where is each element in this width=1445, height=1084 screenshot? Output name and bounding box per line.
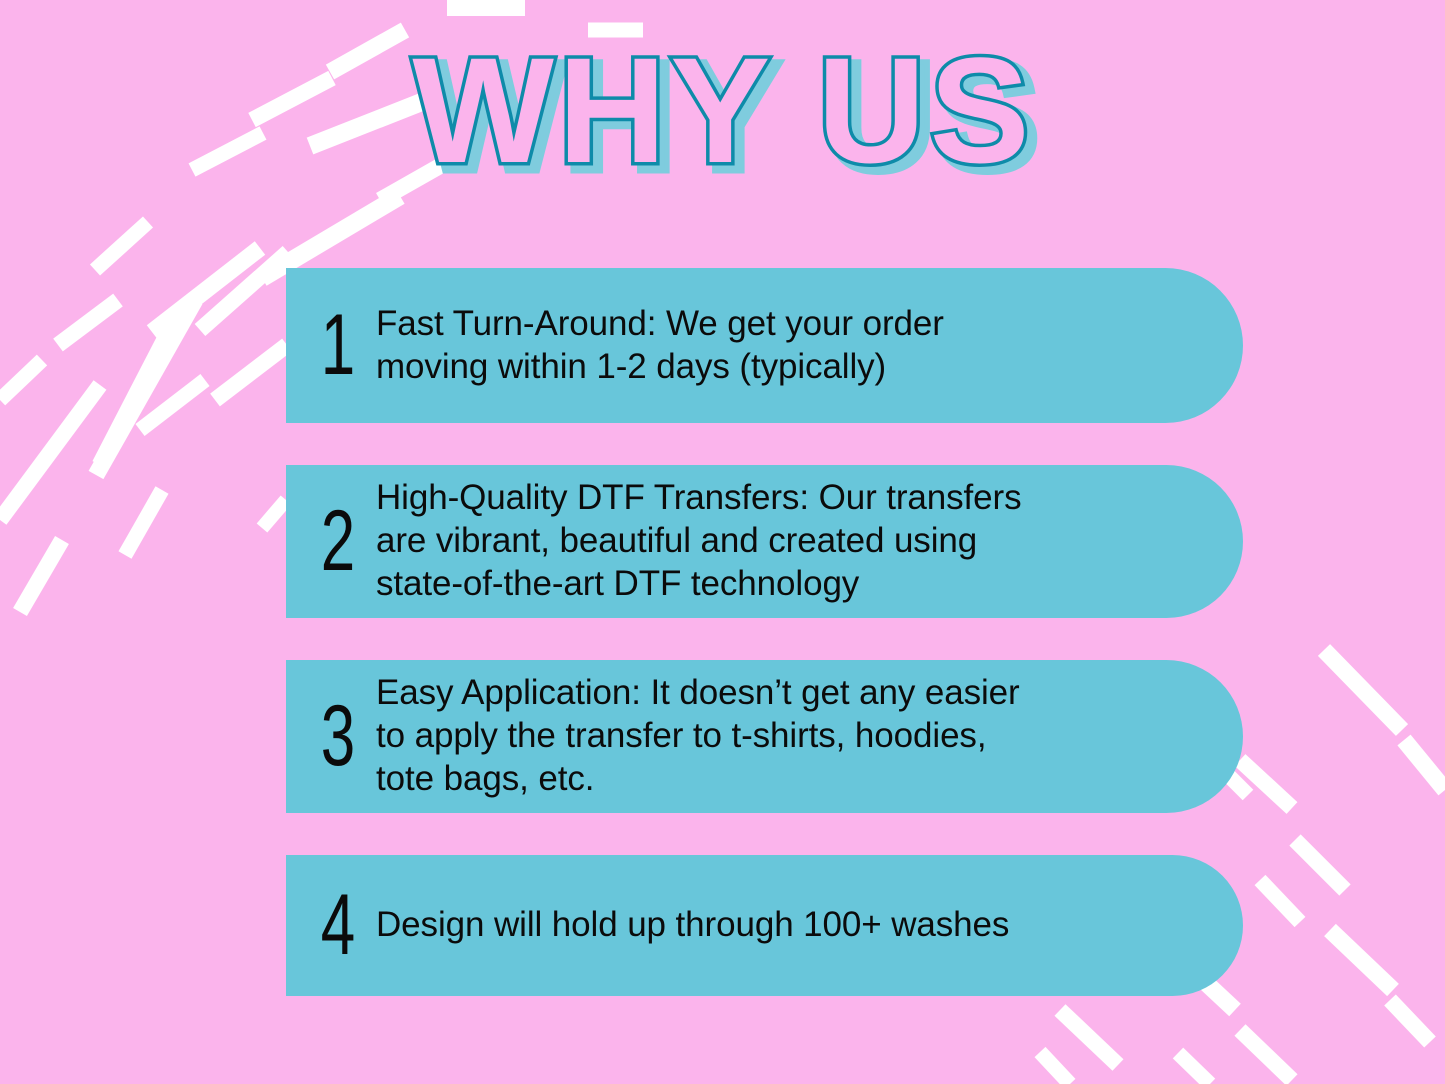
benefit-number-4: 4 (312, 885, 364, 967)
benefit-card-2: 2 High-Quality DTF Transfers: Our transf… (286, 465, 1243, 618)
benefit-card-4: 4 Design will hold up through 100+ washe… (286, 855, 1243, 996)
benefit-text-2-line-1: High-Quality DTF Transfers: Our transfer… (376, 477, 1207, 520)
benefit-text-2-line-3: state-of-the-art DTF technology (376, 563, 1207, 606)
page-title: WHY US WHY US (0, 36, 1445, 206)
benefit-card-1: 1 Fast Turn-Around: We get your order mo… (286, 268, 1243, 423)
benefit-number-1: 1 (312, 305, 364, 387)
benefit-text-3: Easy Application: It doesn’t get any eas… (376, 672, 1243, 800)
benefit-text-1: Fast Turn-Around: We get your order movi… (376, 303, 1243, 388)
benefit-number-3: 3 (312, 696, 364, 778)
benefit-text-2: High-Quality DTF Transfers: Our transfer… (376, 477, 1243, 605)
page-title-shadow: WHY US (420, 36, 1041, 200)
page-title-text: WHY US (412, 36, 1033, 194)
benefit-number-2: 2 (312, 501, 364, 583)
benefit-text-1-line-2: moving within 1-2 days (typically) (376, 346, 1207, 389)
benefit-text-4: Design will hold up through 100+ washes (376, 904, 1243, 947)
benefit-text-3-line-2: to apply the transfer to t-shirts, hoodi… (376, 715, 1207, 758)
benefit-text-4-line-1: Design will hold up through 100+ washes (376, 904, 1183, 947)
why-us-poster: WHY US WHY US 1 Fast Turn-Around: We get… (0, 0, 1445, 1084)
benefit-text-2-line-2: are vibrant, beautiful and created using (376, 520, 1207, 563)
title-artwork: WHY US WHY US (373, 36, 1073, 206)
benefit-text-3-line-1: Easy Application: It doesn’t get any eas… (376, 672, 1207, 715)
benefit-card-3: 3 Easy Application: It doesn’t get any e… (286, 660, 1243, 813)
benefit-text-3-line-3: tote bags, etc. (376, 758, 1207, 801)
benefit-text-1-line-1: Fast Turn-Around: We get your order (376, 303, 1207, 346)
